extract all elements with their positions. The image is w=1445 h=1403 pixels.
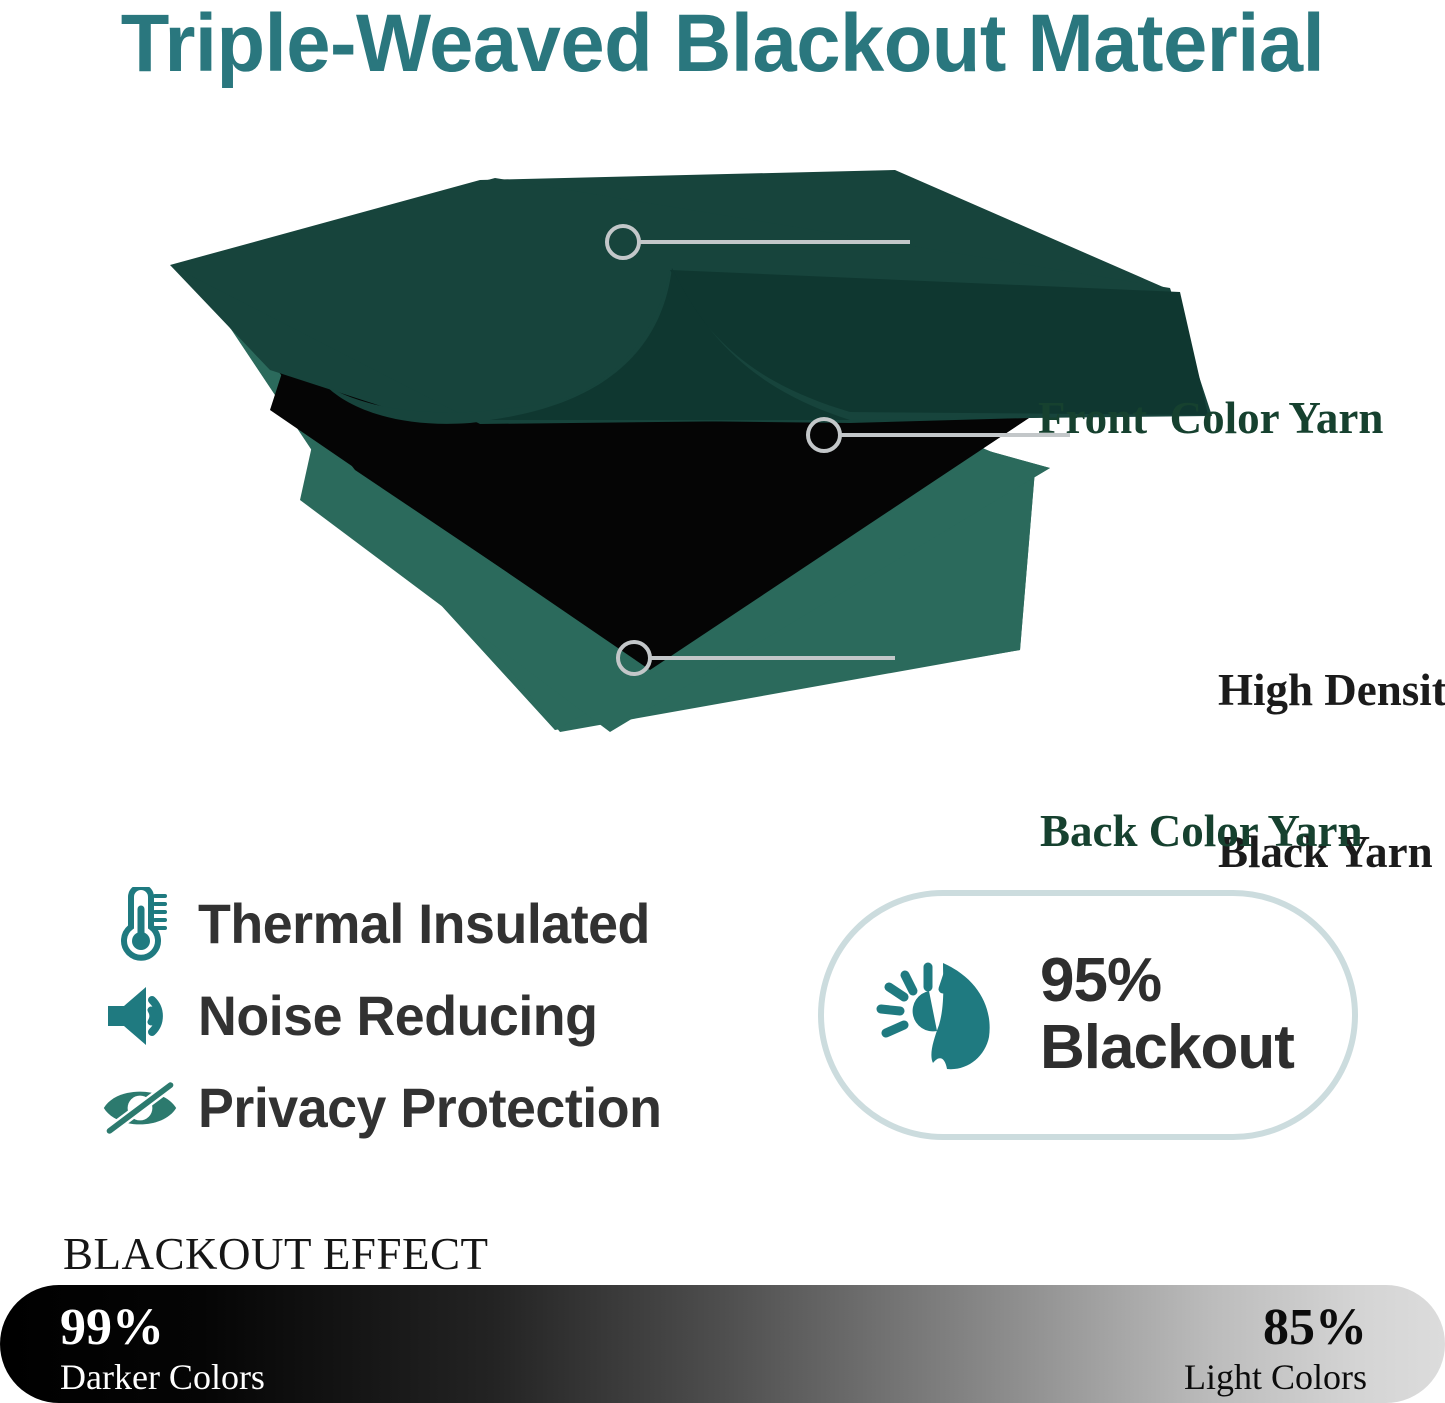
effect-right-caption: Light Colors: [1184, 1356, 1367, 1398]
badge-word: Blackout: [1040, 1014, 1294, 1082]
feature-item-noise: Noise Reducing: [100, 972, 760, 1060]
badge-text: 95% Blackout: [1040, 948, 1294, 1082]
eye-slash-icon: [100, 1068, 180, 1148]
feature-label-thermal: Thermal Insulated: [198, 894, 650, 954]
badge-percent: 95%: [1040, 948, 1294, 1014]
feature-item-thermal: Thermal Insulated: [100, 880, 760, 968]
effect-right-stat: 85% Light Colors: [1184, 1300, 1367, 1398]
callout-label-back: Back Color Yarn: [1040, 804, 1363, 858]
feature-label-noise: Noise Reducing: [198, 986, 598, 1046]
feature-label-privacy: Privacy Protection: [198, 1078, 661, 1138]
blackout-effect-heading: BLACKOUT EFFECT: [63, 1228, 488, 1280]
fabric-layers-diagram: Front Color Yarn High Density Black Yarn…: [150, 170, 1330, 790]
callout-label-black-line1: High Density: [1218, 663, 1445, 717]
blackout-badge: 95% Blackout: [818, 890, 1358, 1140]
effect-left-percent: 99%: [60, 1300, 265, 1356]
thermometer-icon: [100, 884, 180, 964]
speaker-sound-icon: [100, 976, 180, 1056]
effect-left-stat: 99% Darker Colors: [60, 1300, 265, 1398]
feature-list: Thermal Insulated Noise Reducing Privacy…: [100, 880, 760, 1156]
effect-left-caption: Darker Colors: [60, 1356, 265, 1398]
callout-label-front: Front Color Yarn: [1038, 391, 1383, 445]
page-title: Triple-Weaved Blackout Material: [22, 0, 1424, 92]
effect-right-percent: 85%: [1184, 1300, 1367, 1356]
feature-item-privacy: Privacy Protection: [100, 1064, 760, 1152]
sun-blocked-curtain-icon: [866, 940, 1016, 1090]
